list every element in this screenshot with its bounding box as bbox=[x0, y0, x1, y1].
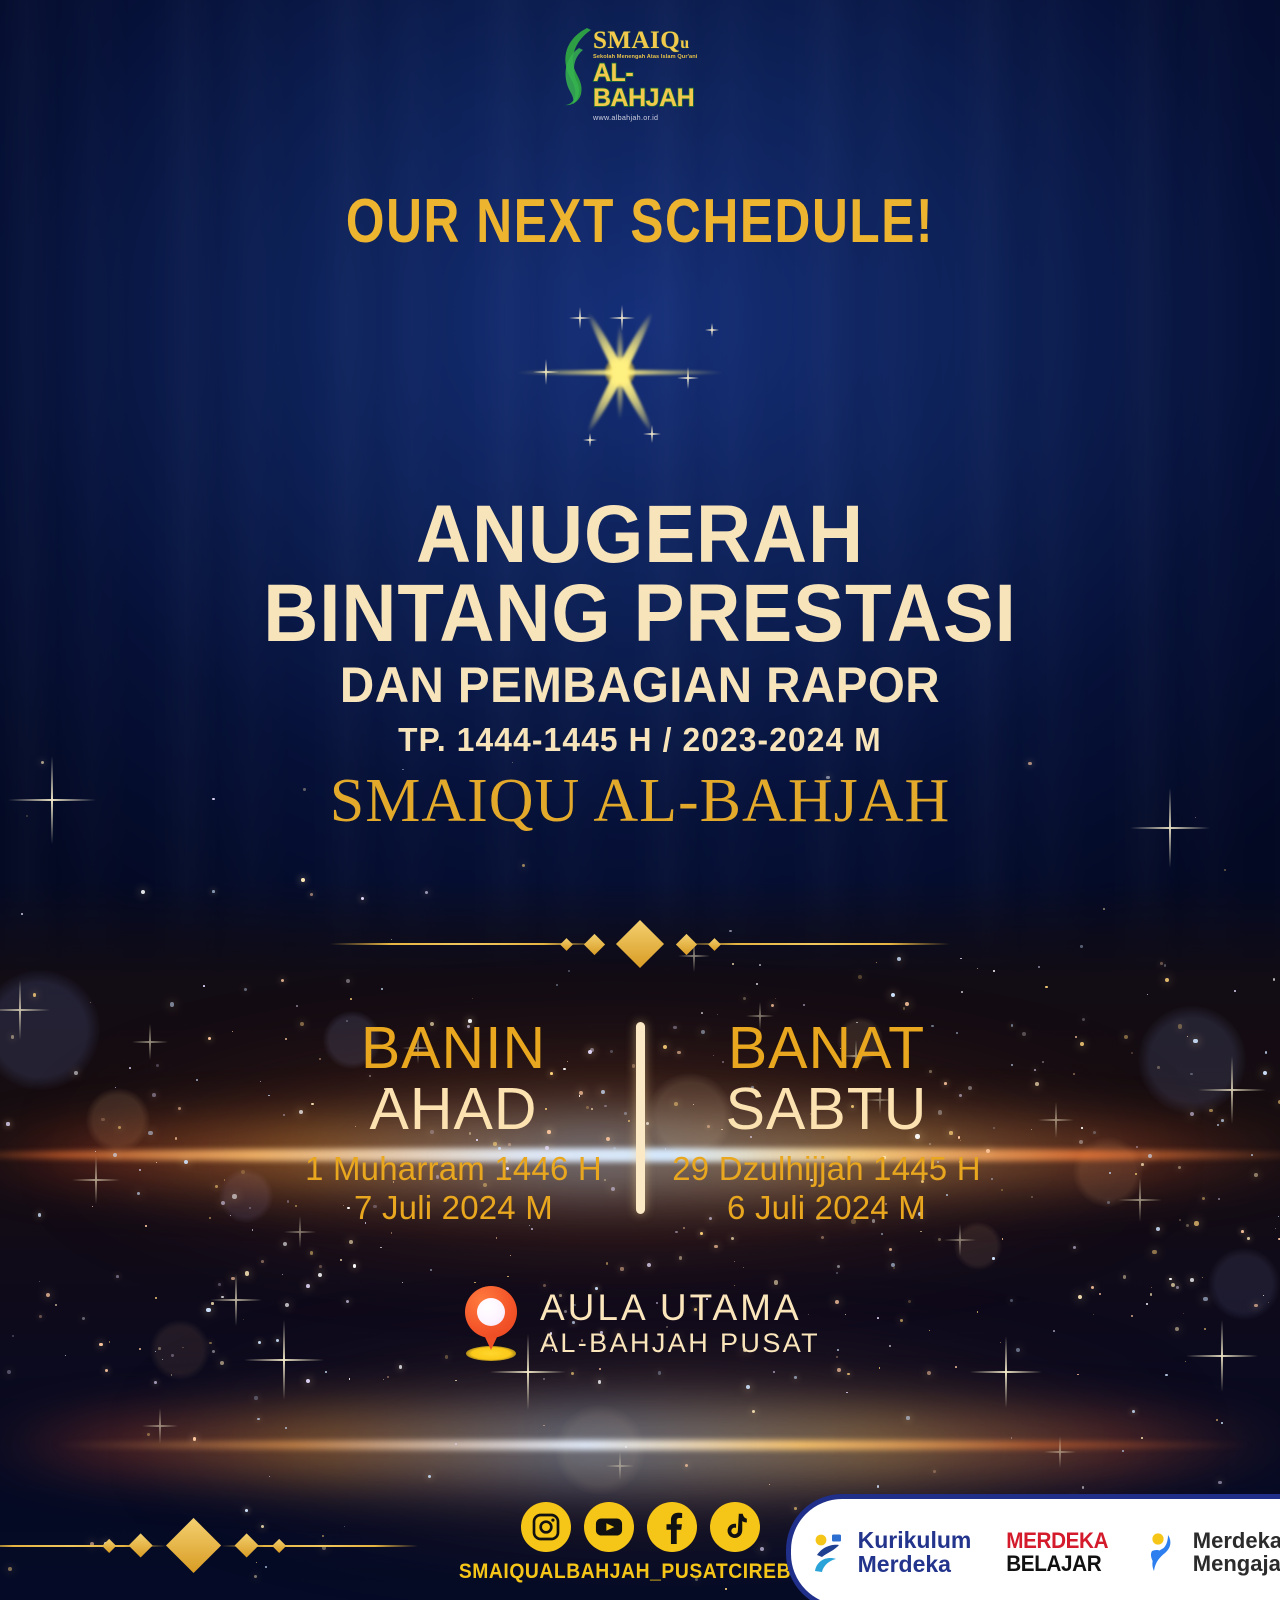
title-line-1: ANUGERAH bbox=[45, 496, 1235, 575]
mengajar-line-1: Merdeka bbox=[1193, 1529, 1280, 1552]
banat-gregorian-date: 6 Juli 2024 M bbox=[667, 1188, 987, 1228]
schedule-block: BANIN AHAD 1 Muharram 1446 H 7 Juli 2024… bbox=[0, 1018, 1280, 1228]
background-lower-dark-wash bbox=[0, 880, 1280, 1600]
kurikulum-line-2: Merdeka bbox=[858, 1552, 972, 1576]
schedule-column-banat: BANAT SABTU 29 Dzulhijjah 1445 H 6 Juli … bbox=[645, 1018, 987, 1228]
title-line-3: DAN PEMBAGIAN RAPOR bbox=[32, 653, 1248, 717]
banin-day: AHAD bbox=[294, 1079, 614, 1140]
banat-group-label: BANAT bbox=[667, 1018, 987, 1079]
schedule-vertical-divider bbox=[636, 1022, 645, 1214]
schedule-column-banin: BANIN AHAD 1 Muharram 1446 H 7 Juli 2024… bbox=[294, 1018, 636, 1228]
instagram-icon[interactable] bbox=[521, 1502, 571, 1552]
tiktok-icon[interactable] bbox=[710, 1502, 760, 1552]
venue-name: AULA UTAMA bbox=[540, 1288, 820, 1328]
facebook-icon[interactable] bbox=[647, 1502, 697, 1552]
program-badges-panel: Kurikulum Merdeka MERDEKA BELAJAR Merdek… bbox=[786, 1494, 1280, 1600]
event-poster: SMAIQu Sekolah Menengah Atas Islam Qur'a… bbox=[0, 0, 1280, 1600]
badge-kurikulum-merdeka: Kurikulum Merdeka bbox=[809, 1528, 972, 1577]
location-block: AULA UTAMA AL-BAHJAH PUSAT bbox=[0, 1284, 1280, 1362]
banin-gregorian-date: 7 Juli 2024 M bbox=[294, 1188, 614, 1228]
badge-merdeka-belajar: MERDEKA BELAJAR bbox=[1003, 1529, 1111, 1576]
title-line-2: BINTANG PRESTASI bbox=[45, 575, 1235, 654]
banat-hijri-date: 29 Dzulhijjah 1445 H bbox=[667, 1149, 987, 1189]
event-title-block: ANUGERAH BINTANG PRESTASI DAN PEMBAGIAN … bbox=[0, 496, 1280, 838]
logo-wordmark: AL-BAHJAH bbox=[593, 61, 725, 111]
school-logo: SMAIQu Sekolah Menengah Atas Islam Qur'a… bbox=[0, 28, 1280, 104]
school-name: SMAIQU AL-BAHJAH bbox=[0, 766, 1280, 837]
kurikulum-figure-icon bbox=[809, 1529, 849, 1575]
kurikulum-line-1: Kurikulum bbox=[858, 1528, 972, 1552]
merdeka-line-1: MERDEKA bbox=[1007, 1529, 1109, 1552]
merdeka-line-2: BELAJAR bbox=[1007, 1552, 1109, 1575]
badge-merdeka-mengajar: Merdeka Mengajar bbox=[1144, 1529, 1280, 1576]
banat-day: SABTU bbox=[667, 1079, 987, 1140]
mengajar-line-2: Mengajar bbox=[1193, 1552, 1280, 1575]
youtube-icon[interactable] bbox=[584, 1502, 634, 1552]
banin-hijri-date: 1 Muharram 1446 H bbox=[294, 1149, 614, 1189]
banin-group-label: BANIN bbox=[294, 1018, 614, 1079]
logo-website: www.albahjah.or.id bbox=[593, 113, 725, 122]
mengajar-figure-icon bbox=[1144, 1529, 1184, 1575]
academic-year: TP. 1444-1445 H / 2023-2024 M bbox=[26, 717, 1255, 764]
venue-detail: AL-BAHJAH PUSAT bbox=[540, 1328, 820, 1358]
eyebrow-heading: OUR NEXT SCHEDULE! bbox=[128, 186, 1152, 257]
map-pin-icon bbox=[460, 1284, 522, 1362]
logo-name: SMAIQu bbox=[593, 28, 725, 53]
